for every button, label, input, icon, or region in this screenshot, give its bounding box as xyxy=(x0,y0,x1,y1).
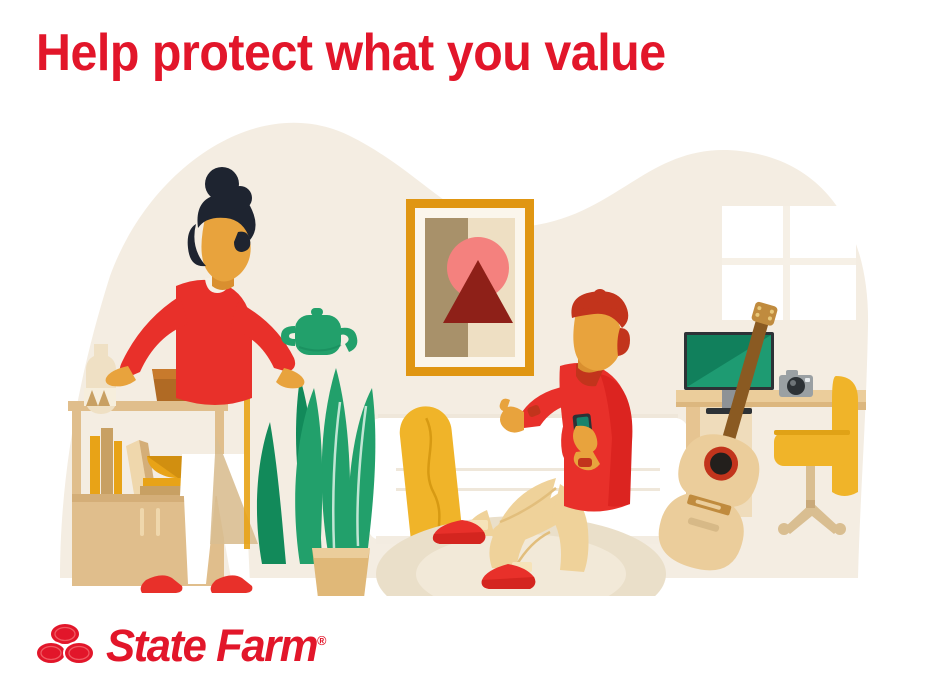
registered-mark: ® xyxy=(317,633,326,648)
page-canvas: Help protect what you value xyxy=(0,0,933,700)
state-farm-logo: State Farm® xyxy=(34,614,333,676)
brand-wordmark: State Farm® xyxy=(106,623,326,668)
three-ellipses-icon xyxy=(34,619,96,671)
brand-name: State Farm xyxy=(106,620,317,671)
page-title: Help protect what you value xyxy=(36,26,666,81)
hero-illustration xyxy=(0,96,933,596)
window xyxy=(722,206,856,320)
wall-art-frame xyxy=(406,199,534,376)
